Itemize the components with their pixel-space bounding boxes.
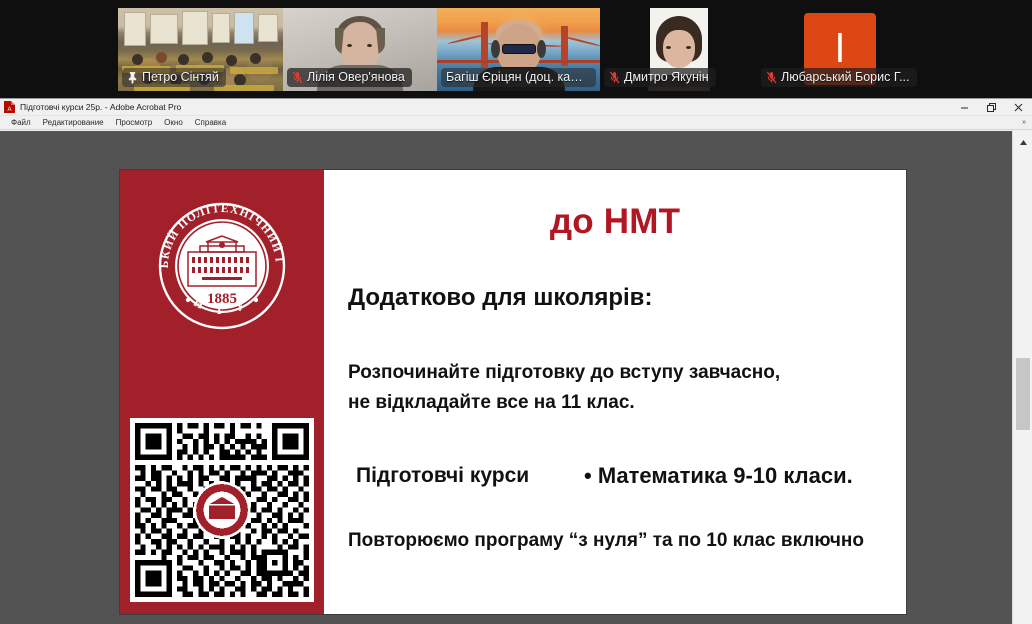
participant-namebar-5: Любарський Борис Г... bbox=[761, 68, 917, 87]
participant-name-4: Дмитро Якунін bbox=[624, 71, 709, 84]
pdf-page: ХАРКІВСЬКИЙ ПОЛІТЕХНІЧНИЙ ІНСТИТУТ Н Т У bbox=[120, 170, 906, 614]
menu-overflow-icon[interactable]: » bbox=[1022, 119, 1026, 126]
mic-off-icon bbox=[292, 71, 303, 84]
restore-button[interactable] bbox=[978, 99, 1005, 116]
participant-namebar-1: Петро Сінтяй bbox=[122, 68, 226, 87]
scrollbar-thumb[interactable] bbox=[1016, 358, 1030, 430]
participant-name-2: Лілія Овер'янова bbox=[307, 71, 405, 84]
close-button[interactable] bbox=[1005, 99, 1032, 116]
zoom-participant-filmstrip: Петро Сінтяй Лілія Овер'янова bbox=[0, 0, 1032, 98]
mic-off-icon bbox=[609, 71, 620, 84]
minimize-button[interactable] bbox=[951, 99, 978, 116]
scroll-up-icon[interactable] bbox=[1013, 133, 1032, 151]
slide-body-line-2: не відкладайте все на 11 клас. bbox=[348, 392, 635, 414]
menu-item-view[interactable]: Просмотр bbox=[110, 116, 159, 130]
menu-item-window[interactable]: Окно bbox=[158, 116, 189, 130]
svg-text:A: A bbox=[7, 107, 11, 113]
window-title: Підготовчі курси 25р. - Adobe Acrobat Pr… bbox=[20, 102, 181, 112]
menubar: Файл Редактирование Просмотр Окно Справк… bbox=[0, 116, 1032, 130]
window-controls bbox=[951, 99, 1032, 116]
pdf-icon: A bbox=[4, 101, 15, 113]
svg-text:1885: 1885 bbox=[207, 291, 237, 307]
participant-name-5: Любарський Борис Г... bbox=[781, 71, 910, 84]
participant-namebar-4: Дмитро Якунін bbox=[604, 68, 716, 87]
qr-code-container[interactable] bbox=[130, 418, 314, 602]
acrobat-window: A Підготовчі курси 25р. - Adobe Acrobat … bbox=[0, 98, 1032, 624]
slide-courses-label: Підготовчі курси bbox=[356, 464, 529, 488]
window-titlebar[interactable]: A Підготовчі курси 25р. - Adobe Acrobat … bbox=[0, 99, 1032, 116]
participant-namebar-3: Багіш Єріцян (доц. каф. ... bbox=[441, 68, 596, 87]
slide-body-line-1: Розпочинайте підготовку до вступу завчас… bbox=[348, 362, 780, 384]
participant-tile-1[interactable]: Петро Сінтяй bbox=[118, 8, 283, 91]
document-canvas[interactable]: ХАРКІВСЬКИЙ ПОЛІТЕХНІЧНИЙ ІНСТИТУТ Н Т У bbox=[0, 131, 1012, 624]
slide-heading: Додатково для школярів: bbox=[348, 284, 652, 312]
menu-item-help[interactable]: Справка bbox=[189, 116, 232, 130]
slide-red-panel: ХАРКІВСЬКИЙ ПОЛІТЕХНІЧНИЙ ІНСТИТУТ Н Т У bbox=[120, 170, 324, 614]
participant-tile-4[interactable]: Дмитро Якунін bbox=[600, 8, 757, 91]
participant-tile-2[interactable]: Лілія Овер'янова bbox=[283, 8, 437, 91]
slide-title: до НМТ bbox=[324, 202, 906, 242]
menu-item-file[interactable]: Файл bbox=[5, 116, 37, 130]
slide-content: до НМТ Додатково для школярів: Розпочина… bbox=[324, 170, 906, 614]
participant-name-1: Петро Сінтяй bbox=[142, 71, 219, 84]
slide-footer-line: Повторюємо програму “з нуля” та по 10 кл… bbox=[348, 530, 864, 552]
slide-bullet-item: • Математика 9-10 класи. bbox=[584, 463, 853, 489]
participant-name-3: Багіш Єріцян (доц. каф. ... bbox=[446, 71, 589, 84]
qr-code[interactable] bbox=[135, 423, 309, 597]
pin-icon bbox=[127, 71, 138, 84]
participant-tile-5[interactable]: l Любарський Борис Г... bbox=[757, 8, 923, 91]
menu-item-edit[interactable]: Редактирование bbox=[37, 116, 110, 130]
avatar-initial: l bbox=[836, 29, 845, 69]
vertical-scrollbar[interactable] bbox=[1012, 131, 1032, 624]
mic-off-icon bbox=[766, 71, 777, 84]
participant-namebar-2: Лілія Овер'янова bbox=[287, 68, 412, 87]
university-seal-logo: ХАРКІВСЬКИЙ ПОЛІТЕХНІЧНИЙ ІНСТИТУТ Н Т У bbox=[156, 200, 288, 332]
scrollbar-track[interactable] bbox=[1013, 153, 1032, 624]
participant-tile-3[interactable]: Багіш Єріцян (доц. каф. ... bbox=[437, 8, 600, 91]
